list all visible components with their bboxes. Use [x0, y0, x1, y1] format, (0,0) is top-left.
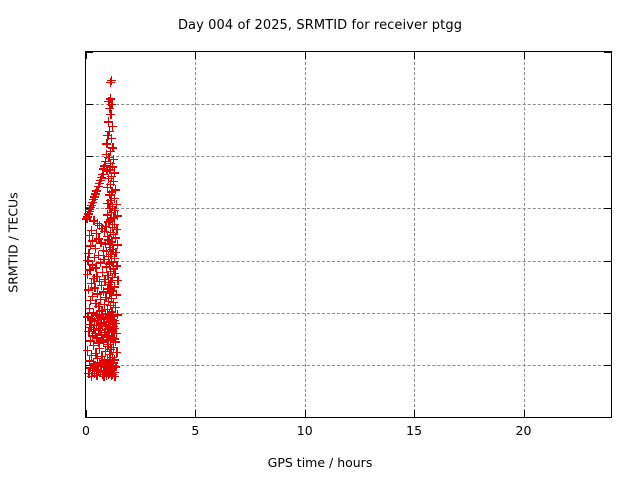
- data-point-marker: [104, 217, 113, 226]
- data-point-marker: [109, 343, 118, 352]
- data-point-marker: [103, 131, 112, 140]
- data-point-marker: [95, 311, 104, 320]
- data-point-marker: [106, 278, 115, 287]
- data-point-marker: [83, 312, 92, 321]
- x-axis-tick-label: 10: [297, 423, 313, 438]
- data-point-marker: [108, 223, 117, 232]
- x-axis-tick-label: 20: [516, 423, 532, 438]
- data-point-marker: [98, 170, 107, 179]
- data-point-marker: [111, 233, 120, 242]
- data-point-marker: [101, 222, 110, 231]
- data-point-marker: [92, 321, 101, 330]
- data-point-marker: [107, 100, 116, 109]
- data-point-marker: [107, 208, 116, 217]
- data-point-marker: [94, 251, 103, 260]
- data-point-marker: [105, 288, 114, 297]
- data-point-marker: [103, 363, 112, 372]
- data-point-marker: [103, 312, 112, 321]
- data-point-marker: [90, 369, 99, 378]
- data-point-marker: [85, 265, 94, 274]
- data-point-marker: [85, 304, 94, 313]
- data-point-marker: [88, 198, 97, 207]
- data-point-marker: [93, 354, 102, 363]
- data-point-marker: [107, 134, 116, 143]
- data-point-marker: [106, 196, 115, 205]
- data-point-marker: [112, 261, 121, 270]
- data-point-marker: [110, 372, 119, 381]
- data-point-marker: [108, 328, 117, 337]
- data-point-marker: [100, 161, 109, 170]
- data-point-marker: [102, 262, 111, 271]
- data-point-marker: [83, 212, 92, 221]
- data-point-marker: [104, 340, 113, 349]
- data-point-marker: [88, 236, 97, 245]
- data-point-marker: [91, 299, 100, 308]
- data-point-marker: [99, 287, 108, 296]
- data-point-marker: [103, 368, 112, 377]
- data-point-marker: [102, 166, 111, 175]
- data-point-marker: [96, 360, 105, 369]
- data-point-marker: [108, 122, 117, 131]
- data-point-marker: [107, 294, 116, 303]
- data-point-marker: [92, 371, 101, 380]
- data-point-marker: [110, 282, 119, 291]
- data-point-marker: [112, 348, 121, 357]
- data-point-marker: [106, 301, 115, 310]
- data-point-marker: [99, 313, 108, 322]
- data-point-marker: [103, 342, 112, 351]
- data-point-marker: [110, 206, 119, 215]
- data-point-marker: [108, 245, 117, 254]
- data-point-marker: [97, 330, 106, 339]
- data-point-marker: [84, 209, 93, 218]
- data-point-marker: [87, 201, 96, 210]
- data-point-marker: [102, 371, 111, 380]
- data-point-marker: [107, 371, 116, 380]
- data-point-marker: [104, 297, 113, 306]
- data-point-marker: [95, 179, 104, 188]
- data-point-marker: [88, 331, 97, 340]
- data-point-marker: [89, 308, 98, 317]
- y-axis-tick-right: [604, 417, 611, 418]
- data-point-marker: [83, 346, 92, 355]
- data-point-marker: [102, 332, 111, 341]
- data-point-marker: [99, 337, 108, 346]
- data-point-marker: [110, 168, 119, 177]
- data-point-marker: [111, 303, 120, 312]
- data-point-marker: [105, 204, 114, 213]
- data-point-marker: [105, 243, 114, 252]
- data-point-marker: [89, 341, 98, 350]
- data-point-marker: [83, 270, 92, 279]
- data-point-marker: [86, 296, 95, 305]
- data-point-marker: [106, 180, 115, 189]
- data-point-marker: [98, 268, 107, 277]
- data-point-marker: [108, 370, 117, 379]
- data-point-marker: [109, 264, 118, 273]
- data-point-marker: [87, 279, 96, 288]
- data-point-marker: [113, 211, 122, 220]
- plot-area: 0.10.150.20.250.30.350.40.4505101520: [85, 51, 612, 418]
- data-point-marker: [91, 189, 100, 198]
- data-point-marker: [106, 215, 115, 224]
- data-point-marker: [103, 305, 112, 314]
- data-point-marker: [105, 327, 114, 336]
- data-point-marker: [105, 259, 114, 268]
- data-point-marker: [87, 372, 96, 381]
- data-point-marker: [108, 318, 117, 327]
- data-point-marker: [108, 353, 117, 362]
- data-point-marker: [97, 224, 106, 233]
- data-point-marker: [112, 290, 121, 299]
- data-point-marker: [88, 366, 97, 375]
- data-point-marker: [108, 202, 117, 211]
- data-point-marker: [111, 362, 120, 371]
- data-point-marker: [91, 244, 100, 253]
- data-point-marker: [90, 361, 99, 370]
- data-point-marker: [82, 214, 91, 223]
- data-point-marker: [105, 309, 114, 318]
- data-point-marker: [95, 344, 104, 353]
- data-point-marker: [108, 273, 117, 282]
- data-point-marker: [96, 295, 105, 304]
- data-point-marker: [106, 147, 115, 156]
- data-point-marker: [85, 320, 94, 329]
- data-point-marker: [110, 334, 119, 343]
- data-point-marker: [86, 336, 95, 345]
- data-point-marker: [113, 240, 122, 249]
- data-point-marker: [108, 162, 117, 171]
- data-point-marker: [108, 143, 117, 152]
- data-point-marker: [103, 199, 112, 208]
- data-point-marker: [107, 187, 116, 196]
- data-point-marker: [106, 228, 115, 237]
- data-point-marker: [105, 350, 114, 359]
- x-axis-title: GPS time / hours: [0, 455, 640, 470]
- data-point-marker: [103, 284, 112, 293]
- data-point-marker: [85, 207, 94, 216]
- data-point-marker: [111, 248, 120, 257]
- data-point-marker: [94, 324, 103, 333]
- data-point-marker: [86, 363, 95, 372]
- data-point-marker: [84, 249, 93, 258]
- x-axis-tick-label: 0: [82, 423, 90, 438]
- data-point-marker: [110, 368, 119, 377]
- data-point-marker: [105, 165, 114, 174]
- chart-title: Day 004 of 2025, SRMTID for receiver ptg…: [0, 18, 640, 33]
- data-point-marker: [93, 365, 102, 374]
- data-point-marker: [97, 306, 106, 315]
- data-point-marker: [94, 338, 103, 347]
- data-point-marker: [87, 351, 96, 360]
- data-point-marker: [104, 252, 113, 261]
- data-point-marker: [98, 335, 107, 344]
- data-point-marker: [89, 274, 98, 283]
- data-point-marker: [111, 185, 120, 194]
- data-point-marker: [103, 271, 112, 280]
- data-point-marker: [100, 367, 109, 376]
- data-point-marker: [106, 78, 115, 87]
- data-point-marker: [97, 281, 106, 290]
- data-point-marker: [104, 97, 113, 106]
- data-point-marker: [99, 372, 108, 381]
- data-point-marker: [109, 177, 118, 186]
- data-point-marker: [111, 319, 120, 328]
- data-point-marker: [88, 292, 97, 301]
- data-point-marker: [96, 258, 105, 267]
- data-point-marker: [101, 309, 110, 318]
- data-point-marker: [93, 289, 102, 298]
- data-point-marker: [110, 254, 119, 263]
- data-point-marker: [104, 117, 113, 126]
- data-point-marker: [109, 358, 118, 367]
- data-point-marker: [113, 276, 122, 285]
- data-point-marker: [111, 337, 120, 346]
- data-point-marker: [90, 253, 99, 262]
- data-point-marker: [96, 326, 105, 335]
- data-point-marker: [107, 76, 116, 85]
- data-point-marker: [100, 357, 109, 366]
- data-point-marker: [105, 369, 114, 378]
- data-point-marker: [106, 367, 115, 376]
- data-point-marker: [91, 329, 100, 338]
- data-point-marker: [100, 275, 109, 284]
- data-point-marker: [84, 285, 93, 294]
- data-point-marker: [96, 319, 105, 328]
- data-point-marker: [92, 272, 101, 281]
- data-point-marker: [105, 190, 114, 199]
- data-point-marker: [97, 173, 106, 182]
- data-point-marker: [101, 347, 110, 356]
- data-point-marker: [84, 369, 93, 378]
- data-point-marker: [101, 293, 110, 302]
- data-point-marker: [101, 362, 110, 371]
- data-point-marker: [89, 195, 98, 204]
- data-point-marker: [92, 186, 101, 195]
- data-point-marker: [109, 230, 118, 239]
- data-point-marker: [99, 246, 108, 255]
- data-point-marker: [106, 335, 115, 344]
- data-point-marker: [104, 153, 113, 162]
- data-point-marker: [95, 221, 104, 230]
- data-point-marker: [107, 333, 116, 342]
- data-point-marker: [88, 260, 97, 269]
- data-point-marker: [89, 359, 98, 368]
- data-point-marker: [108, 286, 117, 295]
- data-point-marker: [107, 257, 116, 266]
- data-point-marker: [108, 365, 117, 374]
- data-point-marker: [112, 225, 121, 234]
- data-point-marker: [106, 250, 115, 259]
- data-point-marker: [110, 194, 119, 203]
- data-point-marker: [92, 367, 101, 376]
- data-point-marker: [90, 192, 99, 201]
- data-point-marker: [103, 210, 112, 219]
- data-point-marker: [109, 155, 118, 164]
- data-point-marker: [101, 157, 110, 166]
- data-point-marker: [87, 226, 96, 235]
- data-point-marker: [99, 164, 108, 173]
- data-point-marker: [103, 183, 112, 192]
- data-point-marker: [109, 311, 118, 320]
- y-axis-title: SRMTID / TECUs: [6, 163, 21, 323]
- data-point-marker: [106, 94, 115, 103]
- data-point-marker: [112, 329, 121, 338]
- data-point-marker: [104, 320, 113, 329]
- data-point-marker: [91, 349, 100, 358]
- data-point-marker: [92, 333, 101, 342]
- data-point-marker: [98, 322, 107, 331]
- data-point-marker: [105, 317, 114, 326]
- data-point-marker: [106, 110, 115, 119]
- data-point-marker: [94, 182, 103, 191]
- data-point-marker: [89, 325, 98, 334]
- data-point-marker: [83, 256, 92, 265]
- data-point-marker: [105, 127, 114, 136]
- data-point-marker: [85, 231, 94, 240]
- data-point-marker: [94, 234, 103, 243]
- data-point-marker: [103, 331, 112, 340]
- data-point-marker: [89, 216, 98, 225]
- data-points-layer: [86, 52, 611, 417]
- data-point-marker: [107, 237, 116, 246]
- data-point-marker: [90, 317, 99, 326]
- x-axis-tick-label: 5: [191, 423, 199, 438]
- data-point-marker: [110, 220, 119, 229]
- data-point-marker: [92, 310, 101, 319]
- data-point-marker: [100, 300, 109, 309]
- data-point-marker: [109, 298, 118, 307]
- data-point-marker: [102, 139, 111, 148]
- data-point-marker: [105, 104, 114, 113]
- data-point-marker: [96, 176, 105, 185]
- data-point-marker: [96, 368, 105, 377]
- data-point-marker: [107, 172, 116, 181]
- data-point-marker: [98, 370, 107, 379]
- data-point-marker: [105, 366, 114, 375]
- data-point-marker: [104, 360, 113, 369]
- data-point-marker: [103, 355, 112, 364]
- data-point-marker: [110, 324, 119, 333]
- data-point-marker: [86, 323, 95, 332]
- data-point-marker: [87, 314, 96, 323]
- data-point-marker: [106, 267, 115, 276]
- data-point-marker: [101, 321, 110, 330]
- data-point-marker: [95, 277, 104, 286]
- data-point-marker: [95, 358, 104, 367]
- data-point-marker: [104, 370, 113, 379]
- x-axis-tick-label: 15: [406, 423, 422, 438]
- data-point-marker: [103, 325, 112, 334]
- data-point-marker: [100, 227, 109, 236]
- data-point-marker: [86, 203, 95, 212]
- data-point-marker: [109, 322, 118, 331]
- data-point-marker: [106, 159, 115, 168]
- data-point-marker: [84, 327, 93, 336]
- data-point-marker: [107, 326, 116, 335]
- data-point-marker: [99, 366, 108, 375]
- data-point-marker: [97, 352, 106, 361]
- data-point-marker: [102, 314, 111, 323]
- data-point-marker: [93, 219, 102, 228]
- data-point-marker: [92, 229, 101, 238]
- data-point-marker: [106, 357, 115, 366]
- data-point-marker: [104, 235, 113, 244]
- data-point-marker: [99, 255, 108, 264]
- data-point-marker: [107, 361, 116, 370]
- data-point-marker: [102, 359, 111, 368]
- data-point-marker: [103, 232, 112, 241]
- data-point-marker: [100, 328, 109, 337]
- data-point-marker: [101, 239, 110, 248]
- data-point-marker: [109, 213, 118, 222]
- data-point-marker: [99, 318, 108, 327]
- data-point-marker: [85, 205, 94, 214]
- data-point-marker: [102, 247, 111, 256]
- data-point-marker: [93, 316, 102, 325]
- data-point-marker: [112, 200, 121, 209]
- y-axis-tick: [86, 417, 93, 418]
- data-point-marker: [107, 307, 116, 316]
- data-point-marker: [106, 313, 115, 322]
- data-point-marker: [91, 263, 100, 272]
- data-point-marker: [110, 316, 119, 325]
- data-point-marker: [90, 283, 99, 292]
- data-point-marker: [86, 241, 95, 250]
- data-point-marker: [113, 310, 122, 319]
- scatter-plot-figure: Day 004 of 2025, SRMTID for receiver ptg…: [0, 0, 640, 480]
- data-point-marker: [110, 269, 119, 278]
- data-point-marker: [94, 302, 103, 311]
- data-point-marker: [104, 174, 113, 183]
- data-point-marker: [104, 280, 113, 289]
- data-point-marker: [102, 150, 111, 159]
- data-point-marker: [96, 238, 105, 247]
- data-point-marker: [106, 323, 115, 332]
- data-point-marker: [106, 345, 115, 354]
- data-point-marker: [110, 355, 119, 364]
- data-point-marker: [85, 356, 94, 365]
